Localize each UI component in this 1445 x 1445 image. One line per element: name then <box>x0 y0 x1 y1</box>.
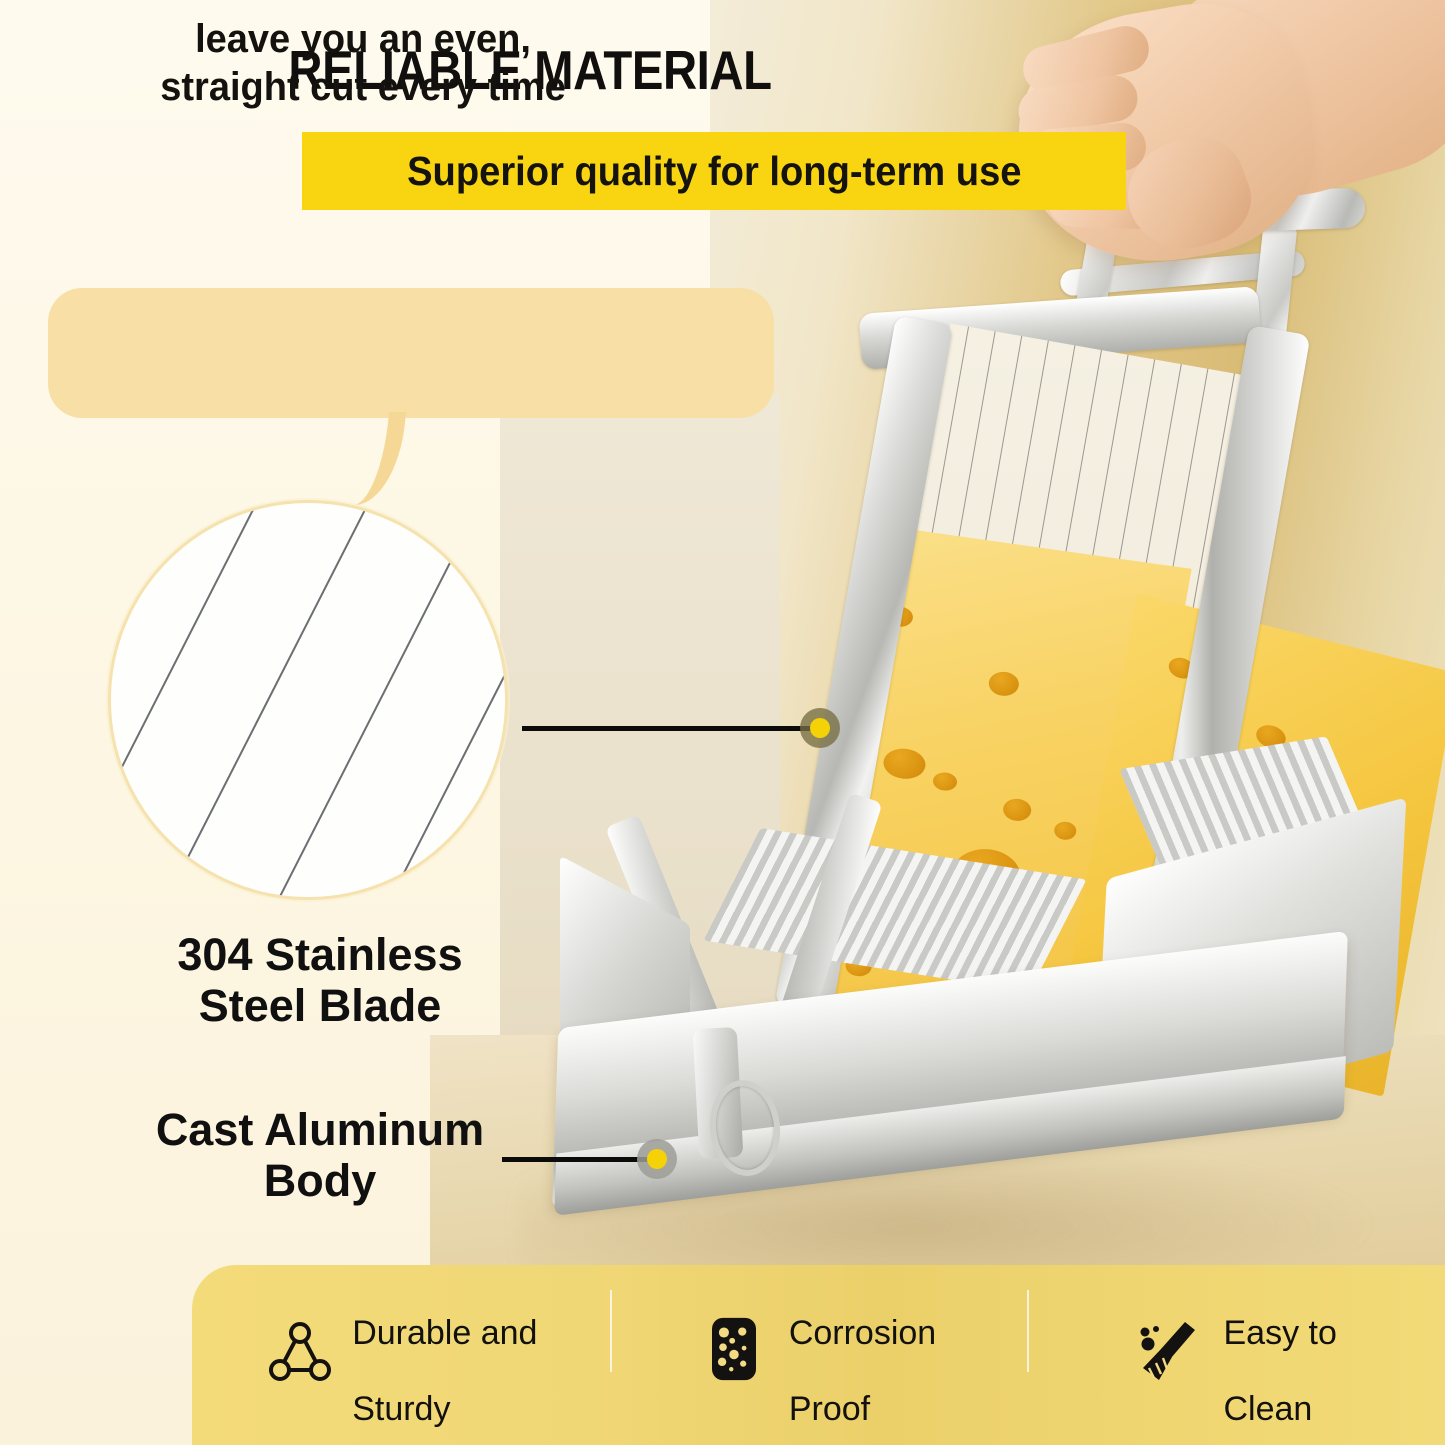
feature-durable-line-1: Durable and <box>352 1314 537 1352</box>
speech-bubble <box>48 288 774 418</box>
callout-label-body-line-1: Cast Aluminum <box>95 1105 545 1156</box>
callout-label-blade: 304 Stainless Steel Blade <box>100 930 540 1032</box>
feature-corrosion-line-1: Corrosion <box>789 1314 936 1352</box>
infographic-canvas: RELIABLE MATERIAL Superior quality for l… <box>0 0 1445 1445</box>
callout-line-blade <box>522 726 822 731</box>
feature-clean-line-1: Easy to <box>1223 1314 1336 1352</box>
blade-zoom-inset <box>108 500 508 900</box>
feature-durable-line-2: Sturdy <box>352 1390 450 1428</box>
subtitle-text: Superior quality for long-term use <box>407 148 1021 195</box>
speech-bubble-line-1: leave you an even, <box>18 16 708 64</box>
feature-label-durable: Durable and Sturdy <box>352 1276 537 1428</box>
callout-label-blade-line-1: 304 Stainless <box>100 930 540 981</box>
speech-bubble-text: leave you an even, straight cut every ti… <box>18 16 708 111</box>
triangle-nodes-icon <box>264 1316 336 1388</box>
feature-bar: Durable and Sturdy <box>192 1265 1445 1445</box>
callout-dot-blade <box>800 708 840 748</box>
broom-icon <box>1135 1316 1207 1388</box>
feature-easy-to-clean: Easy to Clean <box>1027 1276 1445 1434</box>
callout-label-body: Cast Aluminum Body <box>95 1105 545 1207</box>
feature-durable-and-sturdy: Durable and Sturdy <box>192 1276 610 1434</box>
callout-label-blade-line-2: Steel Blade <box>100 981 540 1032</box>
callout-dot-body <box>637 1139 677 1179</box>
feature-corrosion-proof: Corrosion Proof <box>610 1276 1028 1434</box>
subtitle-banner: Superior quality for long-term use <box>302 132 1126 210</box>
feature-clean-line-2: Clean <box>1223 1390 1312 1428</box>
callout-label-body-line-2: Body <box>95 1156 545 1207</box>
feature-label-corrosion: Corrosion Proof <box>789 1276 936 1428</box>
feature-label-clean: Easy to Clean <box>1223 1276 1336 1428</box>
feature-corrosion-line-2: Proof <box>789 1390 870 1428</box>
speech-bubble-line-2: straight cut every time <box>18 64 708 112</box>
corrosion-dots-icon <box>701 1316 773 1388</box>
